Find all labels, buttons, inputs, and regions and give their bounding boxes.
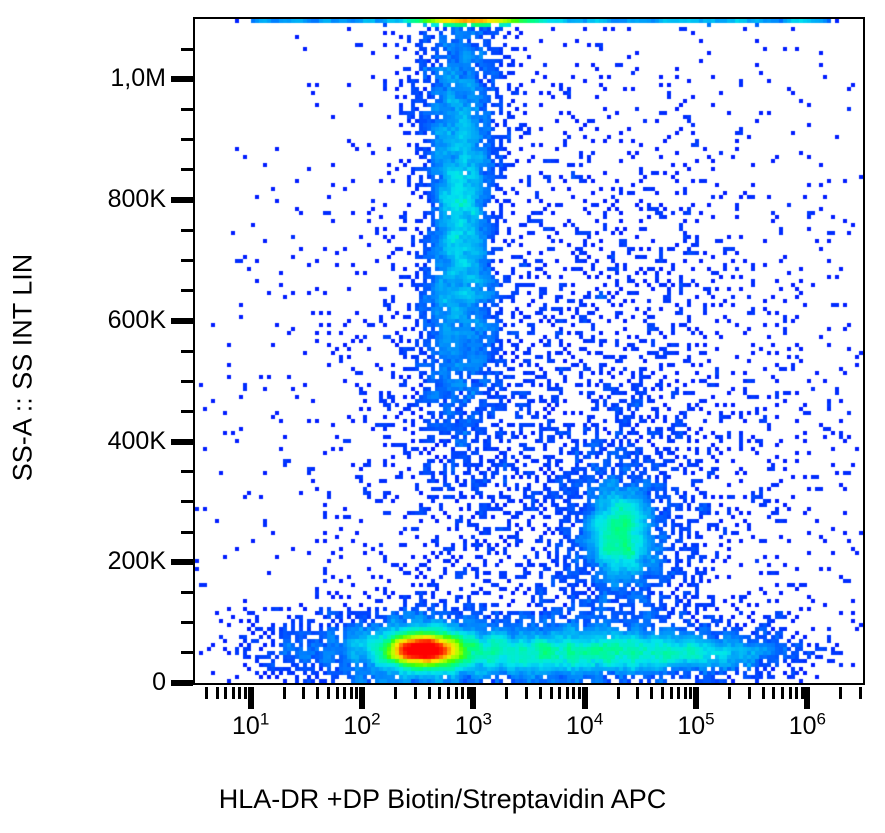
x-tick-label-group: 101102103104105106 xyxy=(0,714,885,754)
y-tick-label: 600K xyxy=(108,308,166,333)
x-axis-minor-tick xyxy=(650,687,653,699)
x-axis-minor-tick xyxy=(283,687,286,699)
x-axis-minor-tick xyxy=(661,687,664,699)
x-tick-exponent: 1 xyxy=(260,710,269,729)
x-axis-minor-tick xyxy=(394,687,397,699)
x-tick-label: 105 xyxy=(677,714,714,739)
x-axis-minor-tick xyxy=(505,687,508,699)
x-tick-label: 102 xyxy=(343,714,380,739)
y-axis-minor-tick xyxy=(181,410,193,413)
x-axis-minor-tick xyxy=(238,687,241,699)
x-tick-mantissa: 10 xyxy=(566,712,594,740)
y-axis-minor-tick xyxy=(181,470,193,473)
x-axis-minor-tick xyxy=(461,687,464,699)
y-axis-minor-tick xyxy=(181,621,193,624)
y-axis-minor-tick xyxy=(181,229,193,232)
y-axis-minor-tick xyxy=(181,48,193,51)
y-axis-minor-tick xyxy=(181,138,193,141)
x-axis-minor-tick xyxy=(244,687,247,699)
x-axis-minor-tick xyxy=(578,687,581,699)
x-tick-mantissa: 10 xyxy=(455,712,483,740)
x-axis-minor-tick xyxy=(839,687,842,699)
x-axis-minor-tick xyxy=(728,687,731,699)
x-axis-minor-tick xyxy=(748,687,751,699)
x-axis-minor-tick xyxy=(525,687,528,699)
x-axis-minor-tick xyxy=(795,687,798,699)
x-axis-ticks xyxy=(193,687,865,711)
x-tick-mantissa: 10 xyxy=(343,712,371,740)
y-axis-minor-tick xyxy=(181,531,193,534)
y-axis-major-tick xyxy=(171,197,193,203)
x-tick-mantissa: 10 xyxy=(677,712,705,740)
y-axis-minor-tick xyxy=(181,108,193,111)
x-axis-minor-tick xyxy=(467,687,470,699)
y-axis-major-tick xyxy=(171,559,193,565)
y-tick-label: 0 xyxy=(152,670,166,695)
y-axis-major-tick xyxy=(171,76,193,82)
x-tick-exponent: 5 xyxy=(705,710,714,729)
x-axis-minor-tick xyxy=(677,687,680,699)
x-tick-exponent: 4 xyxy=(594,710,603,729)
x-axis-minor-tick xyxy=(327,687,330,699)
x-tick-mantissa: 10 xyxy=(789,712,817,740)
x-tick-exponent: 3 xyxy=(483,710,492,729)
plot-area xyxy=(193,17,865,685)
x-axis-minor-tick xyxy=(684,687,687,699)
x-tick-exponent: 6 xyxy=(817,710,826,729)
x-axis-major-tick xyxy=(248,687,254,709)
y-axis-major-tick xyxy=(171,318,193,324)
y-axis-minor-tick xyxy=(181,350,193,353)
x-axis-minor-tick xyxy=(232,687,235,699)
y-axis-minor-tick xyxy=(181,289,193,292)
x-axis-major-tick xyxy=(693,687,699,709)
x-axis-minor-tick xyxy=(689,687,692,699)
x-axis-minor-tick xyxy=(772,687,775,699)
x-tick-label: 106 xyxy=(789,714,826,739)
y-tick-label: 200K xyxy=(108,549,166,574)
x-axis-minor-tick xyxy=(447,687,450,699)
x-axis-major-tick xyxy=(804,687,810,709)
x-axis-minor-tick xyxy=(636,687,639,699)
y-tick-label: 1,0M xyxy=(110,66,166,91)
x-axis-minor-tick xyxy=(438,687,441,699)
x-axis-minor-tick xyxy=(859,687,862,699)
x-axis-minor-tick xyxy=(428,687,431,699)
x-axis-minor-tick xyxy=(216,687,219,699)
x-tick-exponent: 2 xyxy=(371,710,380,729)
y-tick-label: 400K xyxy=(108,429,166,454)
x-axis-minor-tick xyxy=(781,687,784,699)
x-axis-major-tick xyxy=(582,687,588,709)
x-axis-minor-tick xyxy=(302,687,305,699)
x-axis-minor-tick xyxy=(224,687,227,699)
x-axis-minor-tick xyxy=(414,687,417,699)
x-axis-minor-tick xyxy=(617,687,620,699)
scatter-density-canvas xyxy=(195,19,863,683)
x-axis-minor-tick xyxy=(566,687,569,699)
y-axis-ticks xyxy=(193,17,194,685)
x-axis-minor-tick xyxy=(789,687,792,699)
x-axis-minor-tick xyxy=(572,687,575,699)
x-tick-mantissa: 10 xyxy=(232,712,260,740)
y-axis-minor-tick xyxy=(181,168,193,171)
x-axis-minor-tick xyxy=(205,687,208,699)
y-axis-minor-tick xyxy=(181,380,193,383)
x-tick-label: 103 xyxy=(455,714,492,739)
x-axis-minor-tick xyxy=(539,687,542,699)
flow-cytometry-plot: SS-A :: SS INT LIN 0200K400K600K800K1,0M… xyxy=(0,0,885,833)
x-tick-label: 101 xyxy=(232,714,269,739)
x-axis-major-tick xyxy=(359,687,365,709)
y-tick-label: 800K xyxy=(108,187,166,212)
x-axis-minor-tick xyxy=(801,687,804,699)
x-axis-minor-tick xyxy=(343,687,346,699)
y-tick-label-group: 0200K400K600K800K1,0M xyxy=(0,0,166,833)
y-axis-major-tick xyxy=(171,439,193,445)
x-tick-label: 104 xyxy=(566,714,603,739)
y-axis-minor-tick xyxy=(181,500,193,503)
x-axis-minor-tick xyxy=(670,687,673,699)
x-axis-major-tick xyxy=(470,687,476,709)
y-axis-minor-tick xyxy=(181,591,193,594)
x-axis-title: HLA-DR +DP Biotin/Streptavidin APC xyxy=(0,784,885,815)
y-axis-major-tick xyxy=(171,680,193,686)
x-axis-minor-tick xyxy=(455,687,458,699)
x-axis-minor-tick xyxy=(550,687,553,699)
x-axis-minor-tick xyxy=(350,687,353,699)
y-axis-minor-tick xyxy=(181,651,193,654)
x-axis-minor-tick xyxy=(762,687,765,699)
x-axis-minor-tick xyxy=(558,687,561,699)
x-axis-minor-tick xyxy=(336,687,339,699)
x-axis-minor-tick xyxy=(316,687,319,699)
x-axis-minor-tick xyxy=(355,687,358,699)
y-axis-minor-tick xyxy=(181,259,193,262)
